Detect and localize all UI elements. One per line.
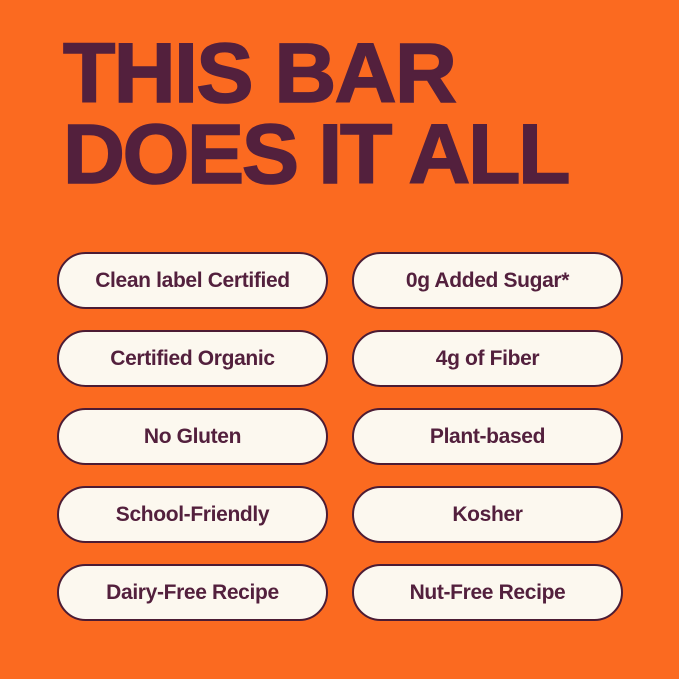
product-claims-graphic: THIS BAR DOES IT ALL Clean label Certifi… [0, 0, 679, 679]
claim-badge-clean-label-certified: Clean label Certified [57, 252, 328, 309]
claim-badge-label: School-Friendly [116, 504, 269, 525]
claims-grid: Clean label Certified 0g Added Sugar* Ce… [57, 252, 623, 621]
page-title-line-1: THIS BAR [63, 33, 655, 114]
claim-badge-label: No Gluten [144, 426, 241, 447]
claim-badge-4g-of-fiber: 4g of Fiber [352, 330, 623, 387]
page-title: THIS BAR DOES IT ALL [63, 33, 655, 196]
claim-badge-certified-organic: Certified Organic [57, 330, 328, 387]
claim-badge-school-friendly: School-Friendly [57, 486, 328, 543]
claim-badge-kosher: Kosher [352, 486, 623, 543]
claim-badge-label: Kosher [452, 504, 522, 525]
claim-badge-no-gluten: No Gluten [57, 408, 328, 465]
claim-badge-label: Plant-based [430, 426, 545, 447]
claim-badge-0g-added-sugar: 0g Added Sugar* [352, 252, 623, 309]
claim-badge-label: 0g Added Sugar* [406, 270, 569, 291]
page-title-line-2: DOES IT ALL [63, 114, 655, 195]
claim-badge-label: Clean label Certified [95, 270, 290, 291]
claim-badge-label: 4g of Fiber [436, 348, 540, 369]
claim-badge-plant-based: Plant-based [352, 408, 623, 465]
claim-badge-label: Dairy-Free Recipe [106, 582, 279, 603]
claim-badge-nut-free-recipe: Nut-Free Recipe [352, 564, 623, 621]
claim-badge-label: Nut-Free Recipe [410, 582, 566, 603]
claim-badge-label: Certified Organic [110, 348, 274, 369]
claim-badge-dairy-free-recipe: Dairy-Free Recipe [57, 564, 328, 621]
